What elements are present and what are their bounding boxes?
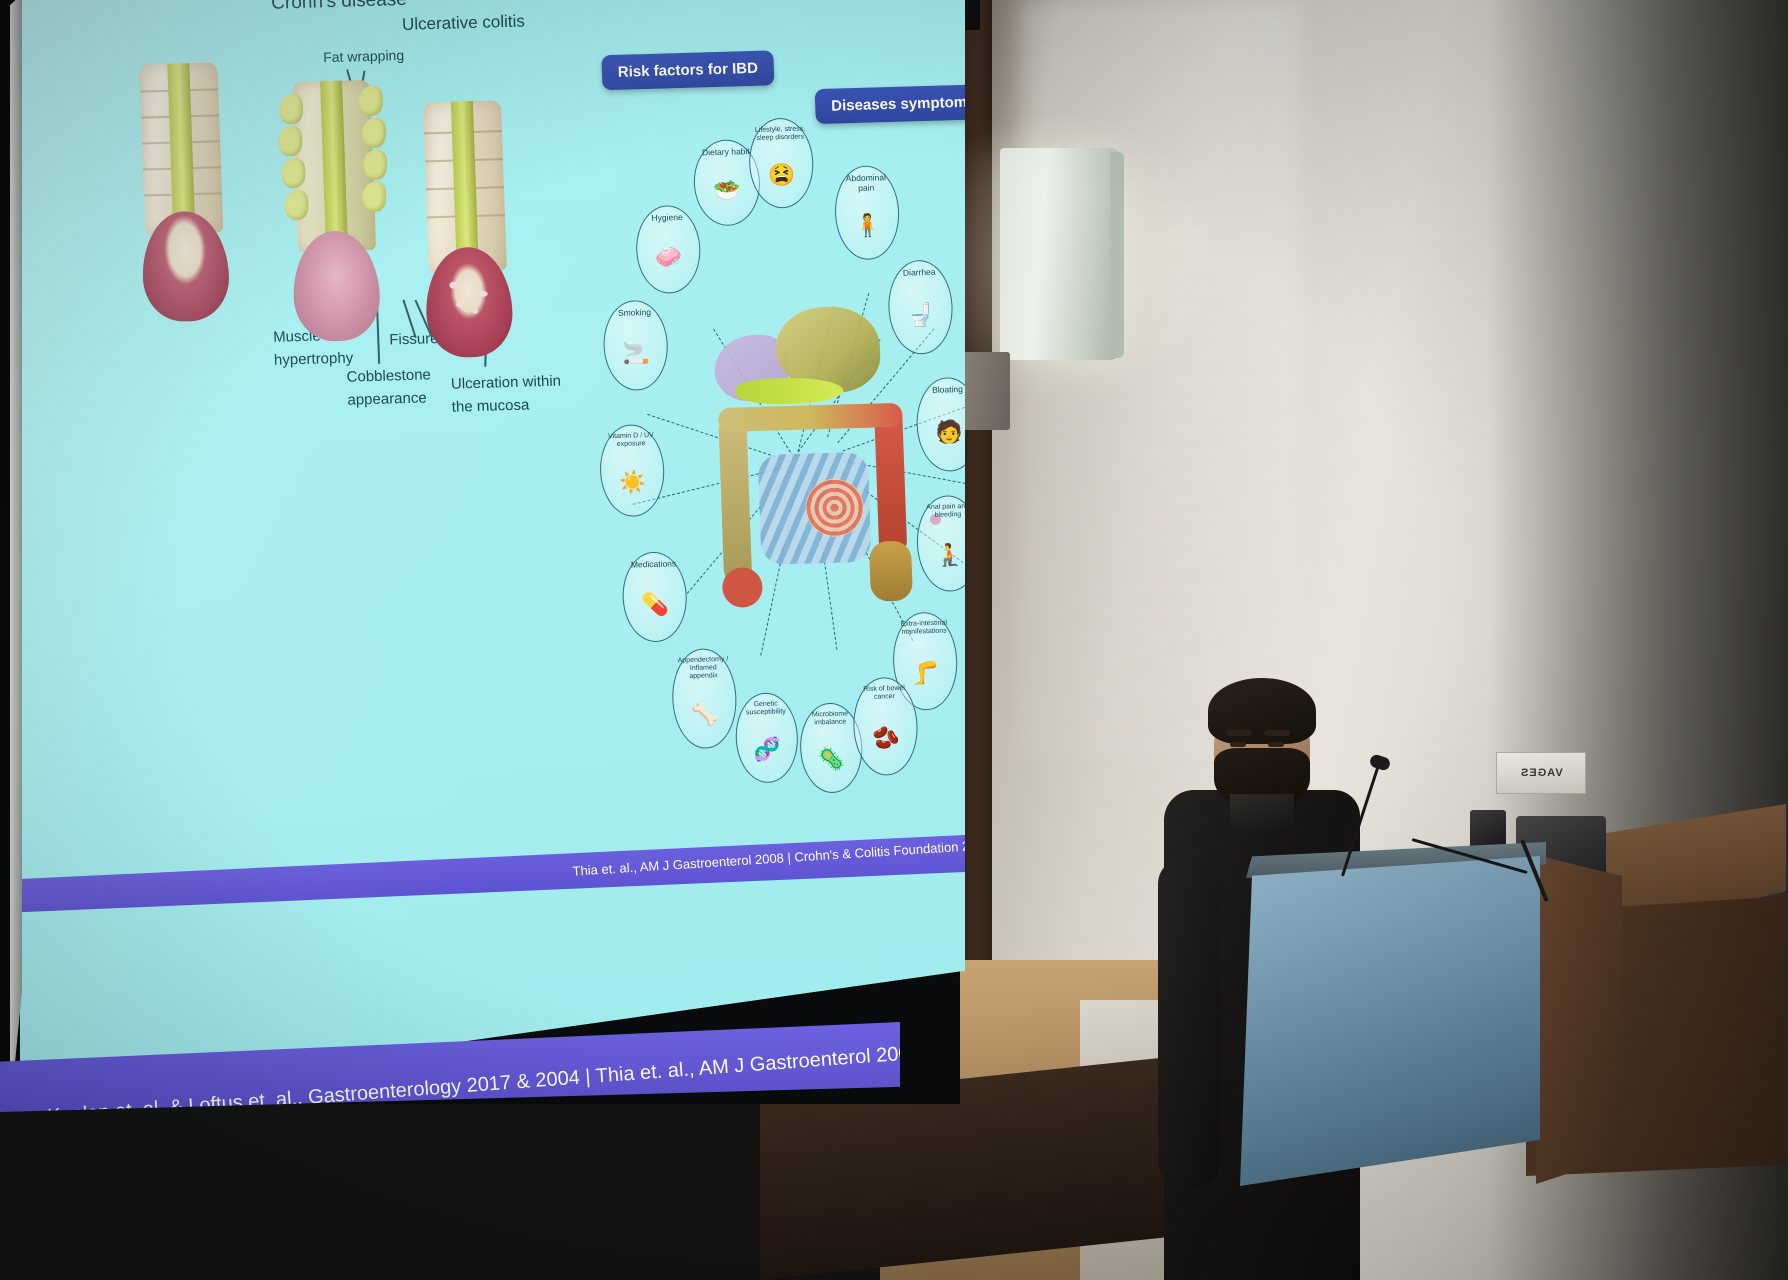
speaker-eye-right	[1268, 742, 1284, 747]
screen-sheen	[20, 0, 965, 1104]
speaker-brow-right	[1264, 730, 1290, 736]
podium-side-panel	[1536, 834, 1622, 1184]
podium	[1240, 856, 1570, 1280]
speaker-arm	[1158, 858, 1220, 1188]
speaker-hair	[1208, 678, 1316, 744]
podium-front-panel	[1240, 856, 1540, 1186]
projection-screen: mmatory Bowel Disease (IBD) Healthy Croh…	[0, 0, 980, 1124]
speaker-collar	[1230, 794, 1294, 834]
speaker-eye-left	[1230, 742, 1246, 747]
screen-surface: mmatory Bowel Disease (IBD) Healthy Croh…	[20, 0, 965, 1104]
screen-left-edge	[10, 0, 22, 1114]
speaker-brow-left	[1226, 730, 1252, 736]
wall-sconce-light	[1000, 148, 1120, 360]
wall-sign: VAGES	[1496, 752, 1586, 794]
lecture-hall-photo: VAGES mmatory Bowel Disease (IBD) Health…	[0, 0, 1788, 1280]
wall-sign-label: VAGES	[1520, 767, 1563, 779]
podium-equipment-small	[1470, 810, 1506, 850]
wall-sconce-edge	[1110, 152, 1124, 358]
